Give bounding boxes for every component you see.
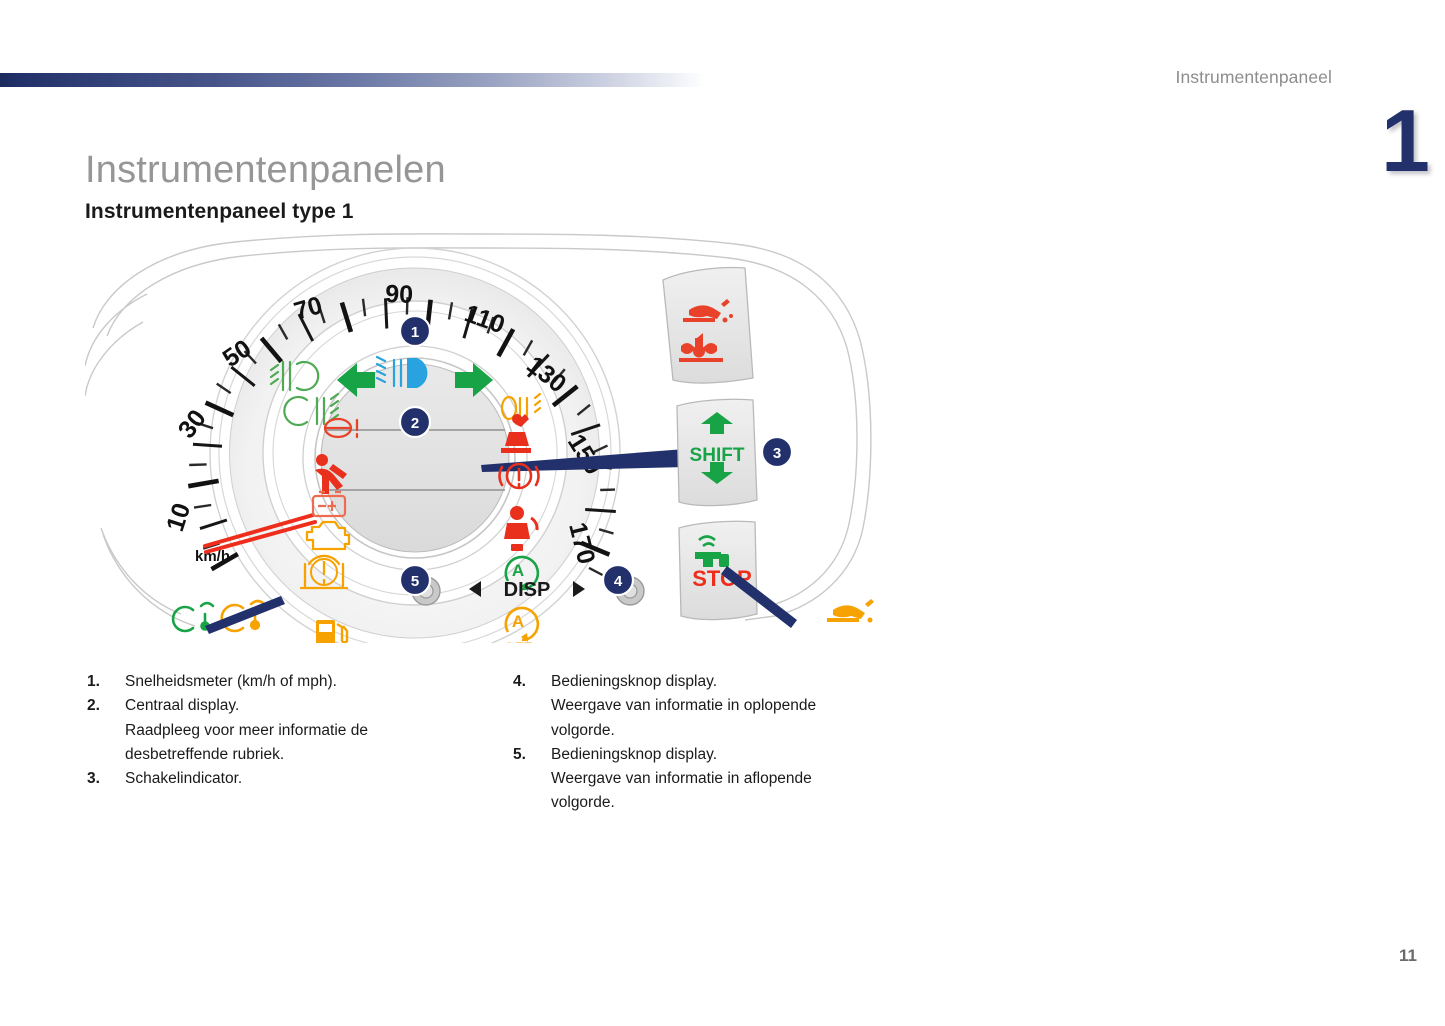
legend-list-right: 4. Bedieningsknop display. Weergave van … <box>513 670 913 816</box>
disp-next-arrow <box>573 581 585 597</box>
list-item-line: Centraal display. <box>125 694 487 718</box>
svg-text:10: 10 <box>161 500 196 535</box>
engine-oil-level-icon <box>827 599 874 623</box>
list-item: 1. Snelheidsmeter (km/h of mph). <box>87 670 487 694</box>
svg-text:90: 90 <box>385 280 414 309</box>
list-item: 4. Bedieningsknop display. Weergave van … <box>513 670 913 743</box>
svg-text:5: 5 <box>411 573 419 590</box>
list-item-body: Schakelindicator. <box>125 767 487 791</box>
list-item: 5. Bedieningsknop display. Weergave van … <box>513 743 913 816</box>
list-item-body: Bedieningsknop display. Weergave van inf… <box>551 743 913 816</box>
svg-text:170: 170 <box>563 520 600 567</box>
list-item-line: Bedieningsknop display. <box>551 670 913 694</box>
list-item: 2. Centraal display. Raadpleeg voor meer… <box>87 694 487 767</box>
svg-text:A: A <box>512 612 524 631</box>
callout-3: 3 <box>762 437 792 467</box>
svg-text:4: 4 <box>614 573 623 590</box>
running-header-title: Instrumentenpaneel <box>1176 67 1333 88</box>
list-item-number: 3. <box>87 767 125 791</box>
callout-5: 5 <box>400 565 430 595</box>
instrument-cluster-illustration: 10 30 50 70 90 110 130 150 170 km/h <box>85 228 895 643</box>
list-item-line: Schakelindicator. <box>125 767 487 791</box>
list-item: 3. Schakelindicator. <box>87 767 487 791</box>
callout-4: 4 <box>603 565 633 595</box>
list-item-number: 1. <box>87 670 125 694</box>
list-item-number: 5. <box>513 743 551 816</box>
list-item-line: Snelheidsmeter (km/h of mph). <box>125 670 487 694</box>
disp-label: DISP <box>504 579 551 601</box>
side-panel-upper <box>663 268 753 384</box>
callout-1: 1 <box>400 316 430 346</box>
header-gradient-bar <box>0 73 705 87</box>
section-title: Instrumentenpaneel type 1 <box>85 200 354 224</box>
list-item-line: volgorde. <box>551 719 913 743</box>
svg-text:30: 30 <box>173 405 212 444</box>
stop-start-off-label: OFF <box>504 639 532 643</box>
list-item-body: Centraal display. Raadpleeg voor meer in… <box>125 694 487 767</box>
svg-text:1: 1 <box>411 324 419 341</box>
svg-text:2: 2 <box>411 415 419 432</box>
list-item-body: Bedieningsknop display. Weergave van inf… <box>551 670 913 743</box>
list-item-body: Snelheidsmeter (km/h of mph). <box>125 670 487 694</box>
list-item-line: Weergave van informatie in oplopende <box>551 694 913 718</box>
list-item-line: desbetreffende rubriek. <box>125 743 487 767</box>
list-item-line: Bedieningsknop display. <box>551 743 913 767</box>
list-item-number: 2. <box>87 694 125 767</box>
chapter-number-tab: 1 <box>1367 95 1445 187</box>
leader-line-bottom-left <box>205 596 285 634</box>
list-item-number: 4. <box>513 670 551 743</box>
list-item-line: volgorde. <box>551 791 913 815</box>
callout-2: 2 <box>400 407 430 437</box>
svg-text:3: 3 <box>773 445 781 462</box>
list-item-line: Weergave van informatie in aflopende <box>551 767 913 791</box>
page-number: 11 <box>1399 946 1417 966</box>
page-title: Instrumentenpanelen <box>85 149 446 192</box>
svg-text:A: A <box>512 561 524 580</box>
list-item-line: Raadpleeg voor meer informatie de <box>125 719 487 743</box>
legend-list-left: 1. Snelheidsmeter (km/h of mph). 2. Cent… <box>87 670 487 791</box>
